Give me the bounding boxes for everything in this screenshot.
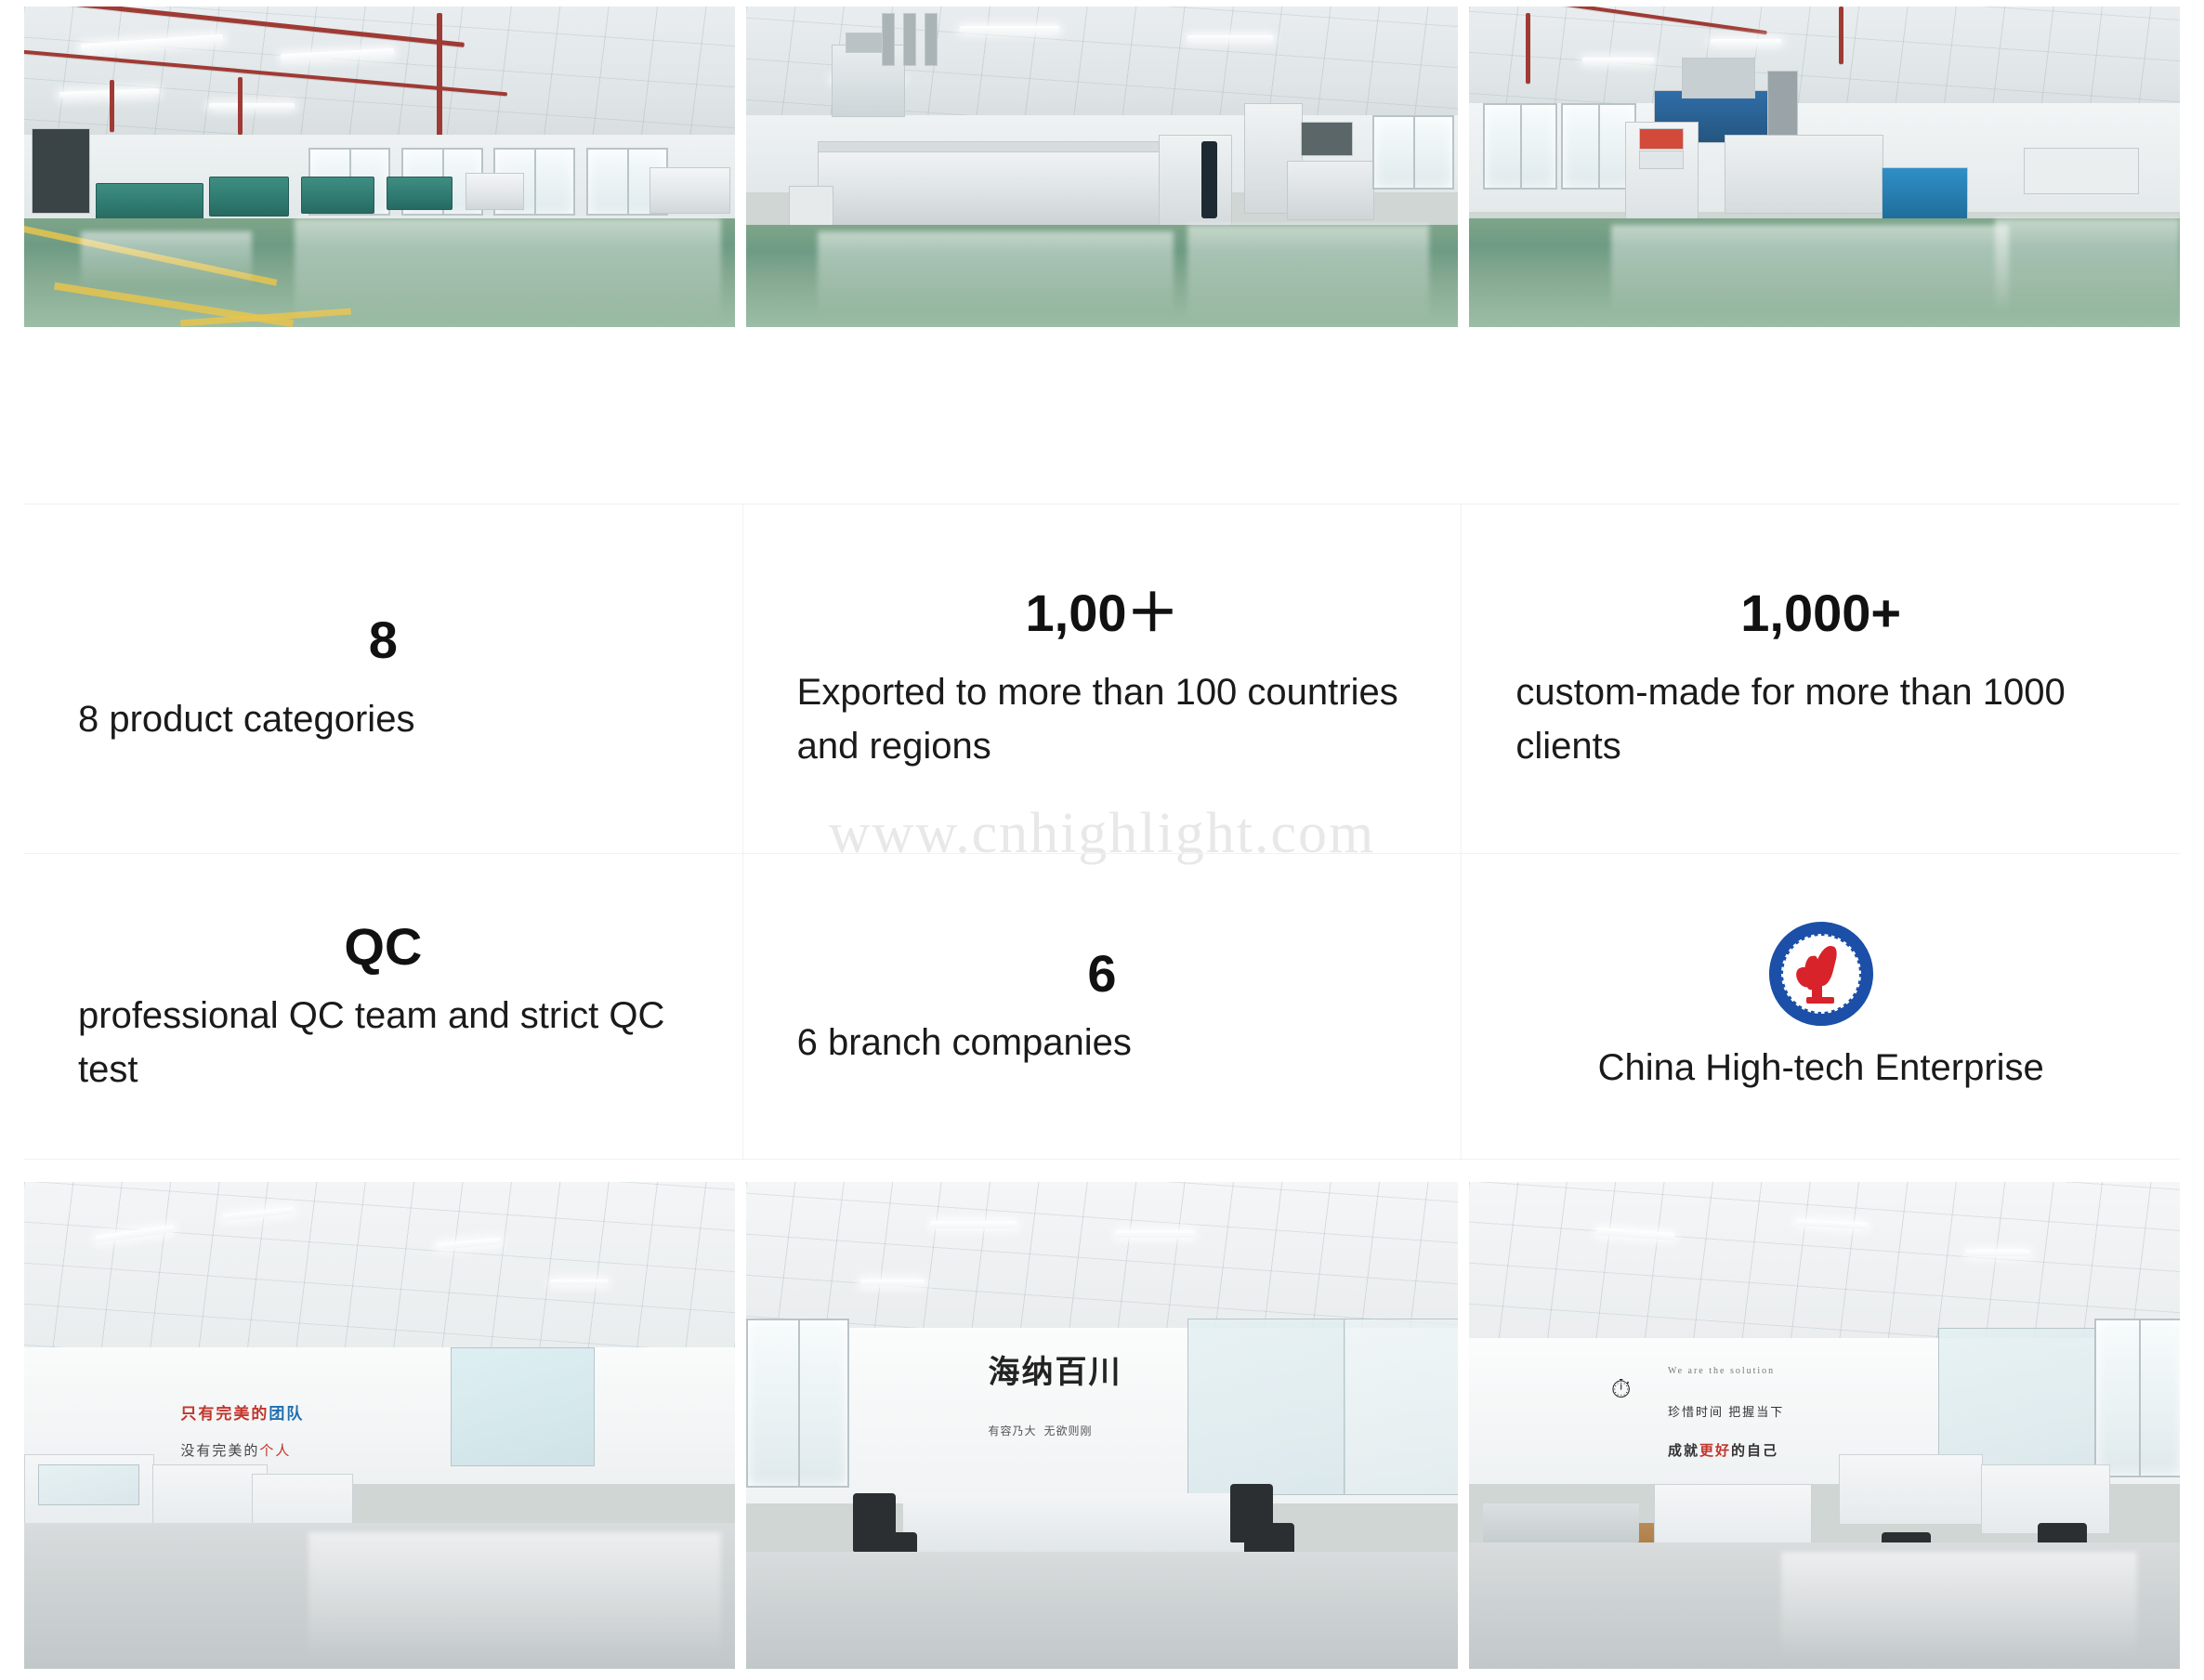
logo-wrapper (1515, 922, 2126, 1026)
stats-row-1: 8 8 product categories 1,00＋ Exported to… (24, 505, 2180, 853)
stat-number: 8 (78, 611, 689, 669)
photo-reflow-oven-production-line (746, 7, 1457, 327)
stat-description: Exported to more than 100 countries and … (797, 665, 1408, 773)
stat-number: 6 (797, 945, 1408, 1003)
stat-cell-custom-made-clients: 1,000+ custom-made for more than 1000 cl… (1461, 505, 2180, 853)
stat-description: custom-made for more than 1000 clients (1515, 665, 2126, 773)
stat-cell-product-categories: 8 8 product categories (24, 505, 742, 853)
china-high-tech-enterprise-logo (1769, 922, 1873, 1026)
stat-description: 8 product categories (78, 692, 689, 746)
stat-cell-branch-companies: 6 6 branch companies (742, 854, 1462, 1161)
photo-open-office-workstations: ⏱ We are the solution 珍惜时间 把握当下 成就更好的自己 (1469, 1182, 2180, 1669)
company-stats-table: 8 8 product categories 1,00＋ Exported to… (24, 504, 2180, 1160)
stat-description: professional QC team and strict QC test (78, 989, 689, 1096)
photo-factory-production-workshop (24, 7, 735, 327)
stats-row-2: QC professional QC team and strict QC te… (24, 853, 2180, 1161)
stat-cell-china-high-tech-enterprise: China High-tech Enterprise (1461, 854, 2180, 1161)
factory-photo-row (24, 7, 2180, 327)
logo-caption: China High-tech Enterprise (1515, 1043, 2126, 1093)
office-photo-row: 只有完美的团队 没有完美的个人 海纳百川 有容乃大 无欲则刚 (24, 1182, 2180, 1669)
logo-flame-icon (1795, 945, 1847, 1003)
stat-description: 6 branch companies (797, 1016, 1408, 1070)
stat-cell-export-countries: 1,00＋ Exported to more than 100 countrie… (742, 505, 1462, 853)
stat-number: 1,00＋ (797, 584, 1408, 642)
photo-meeting-room: 海纳百川 有容乃大 无欲则刚 (746, 1182, 1457, 1669)
stat-cell-qc-team: QC professional QC team and strict QC te… (24, 854, 742, 1161)
photo-equipment-room-with-control-panel (1469, 7, 2180, 327)
photo-office-reception-area: 只有完美的团队 没有完美的个人 (24, 1182, 735, 1669)
stat-number: 1,000+ (1515, 584, 2126, 642)
stat-number: QC (78, 918, 689, 976)
company-strength-page: www.cnhighlight.com (0, 0, 2204, 1680)
